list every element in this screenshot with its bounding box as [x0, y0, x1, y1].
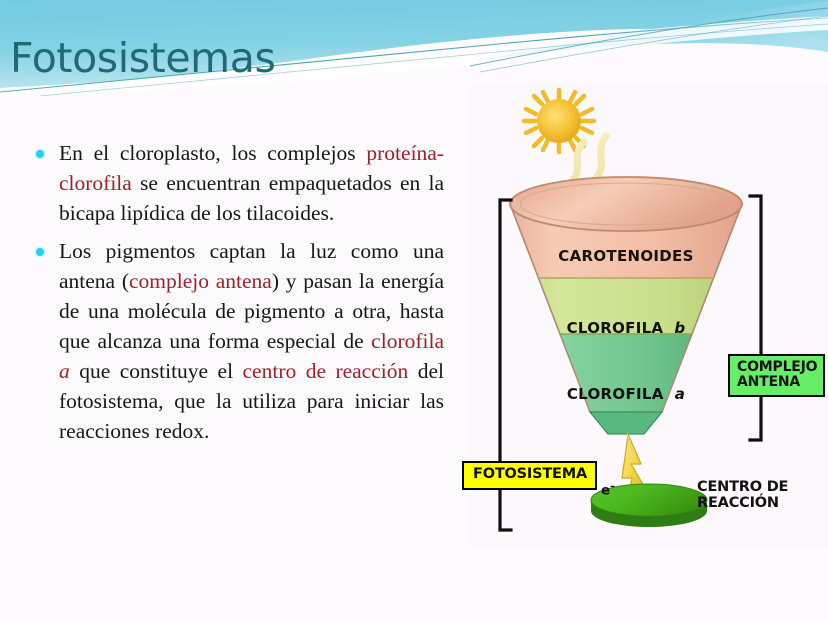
label-box-fotosistema: FOTOSISTEMA — [462, 461, 597, 490]
text-segment: que constituye el — [70, 359, 243, 383]
clorofila-a-italic: a — [675, 385, 685, 403]
figure-fotosistema: CAROTENOIDES CLOROFILA b CLOROFILA a e– … — [466, 82, 828, 550]
funnel-label-carotenoides: CAROTENOIDES — [523, 248, 729, 264]
clorofila-b-main: CLOROFILA — [567, 319, 664, 337]
text-segment: clorofila — [371, 329, 444, 353]
clorofila-b-italic: b — [674, 319, 685, 337]
bracket-complejo-antena — [750, 196, 761, 440]
clorofila-a-main: CLOROFILA — [567, 385, 664, 403]
funnel-label-clorofila-a: CLOROFILA a — [523, 370, 729, 402]
electron-symbol: e — [601, 482, 610, 498]
funnel-label-clorofila-b: CLOROFILA b — [523, 304, 729, 336]
electron-label: e– — [601, 467, 615, 498]
bullet-list: En el cloroplasto, los complejos proteín… — [28, 138, 444, 446]
text-segment: complejo antena — [129, 269, 272, 293]
label-centro-reaccion: CENTRO DE REACCIÓN — [697, 480, 788, 511]
slide: Fotosistemas En el cloroplasto, los comp… — [0, 0, 828, 621]
text-segment: a — [59, 359, 70, 383]
body-content: En el cloroplasto, los complejos proteín… — [28, 138, 444, 454]
text-segment: centro de reacción — [243, 359, 409, 383]
list-item: Los pigmentos captan la luz como una ant… — [28, 236, 444, 446]
text-segment: En el cloroplasto, los complejos — [59, 141, 366, 165]
list-item: En el cloroplasto, los complejos proteín… — [28, 138, 444, 228]
label-box-complejo-antena: COMPLEJO ANTENA — [728, 354, 825, 397]
page-title: Fotosistemas — [10, 34, 275, 82]
